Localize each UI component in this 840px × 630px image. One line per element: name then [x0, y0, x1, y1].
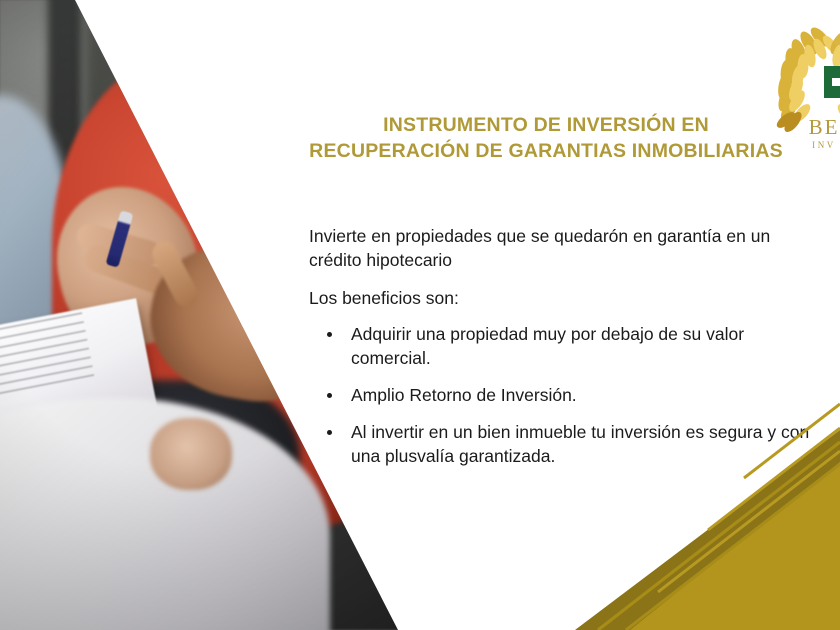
benefits-list: Adquirir una propiedad muy por debajo de…: [309, 322, 824, 468]
list-item: Al invertir en un bien inmueble tu inver…: [322, 420, 824, 468]
title-line-2: RECUPERACIÓN DE GARANTIAS INMOBILIARIAS: [296, 138, 796, 164]
list-item-label: Adquirir una propiedad muy por debajo de…: [351, 324, 744, 368]
body-content: Invierte en propiedades que se quedarón …: [309, 224, 824, 481]
logo-wordmark: BE: [762, 116, 840, 138]
list-item: Amplio Retorno de Inversión.: [322, 383, 824, 407]
list-item-label: Al invertir en un bien inmueble tu inver…: [351, 422, 809, 466]
title-line-1: INSTRUMENTO DE INVERSIÓN EN: [296, 112, 796, 138]
intro-paragraph: Invierte en propiedades que se quedarón …: [309, 224, 824, 272]
slide: INSTRUMENTO DE INVERSIÓN EN RECUPERACIÓN…: [0, 0, 840, 630]
list-item: Adquirir una propiedad muy por debajo de…: [322, 322, 824, 370]
green-shield-icon: [824, 66, 840, 110]
page-title: INSTRUMENTO DE INVERSIÓN EN RECUPERACIÓN…: [296, 112, 796, 164]
logo-tagline: INV: [762, 140, 840, 150]
list-item-label: Amplio Retorno de Inversión.: [351, 385, 577, 405]
lead-in-text: Los beneficios son:: [309, 286, 824, 310]
